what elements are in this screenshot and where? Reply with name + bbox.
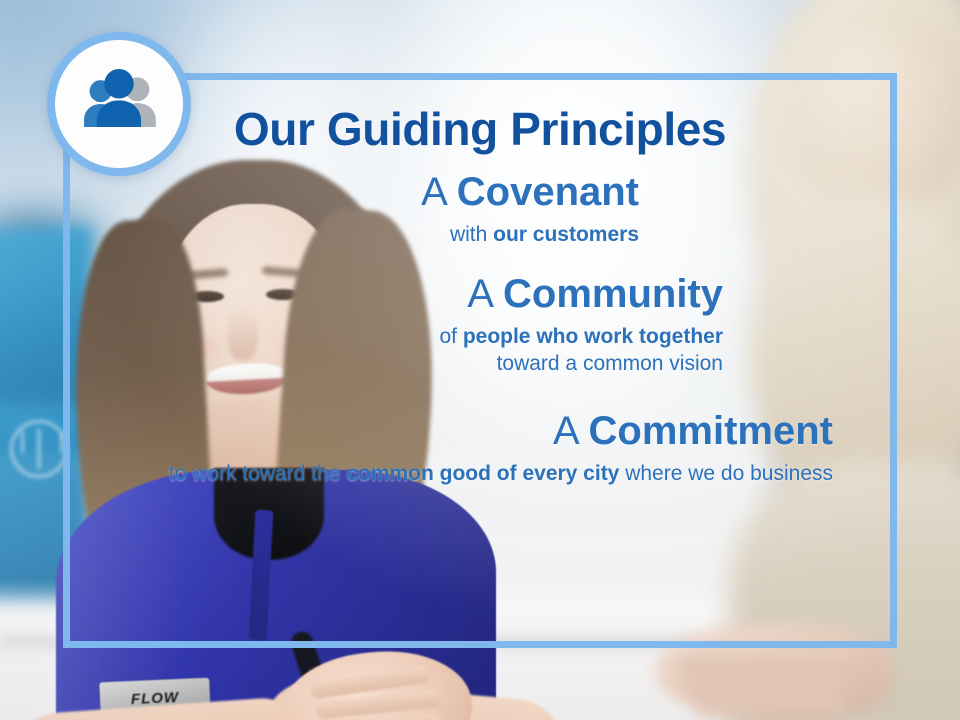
principle-community-keyword: Community	[503, 272, 723, 316]
guiding-principles-banner: FLOW FLOW Our Guiding Principles A Coven…	[0, 0, 960, 720]
principle-covenant-sub-bold: our customers	[493, 223, 639, 246]
principle-commitment-sub-pre: to work toward the	[169, 462, 346, 485]
page-title: Our Guiding Principles	[99, 77, 861, 154]
principle-commitment-sub-post: where we do business	[619, 462, 833, 485]
principle-covenant-sub-pre: with	[450, 223, 493, 246]
principle-community-sub-bold: people who work together	[463, 325, 723, 348]
people-group-icon	[73, 58, 165, 150]
customer-finger-3	[694, 696, 844, 716]
principle-covenant-lead: A	[421, 170, 457, 214]
principle-commitment-keyword: Commitment	[589, 409, 833, 453]
vw-roundel-icon	[10, 420, 68, 478]
people-badge	[47, 32, 191, 176]
principle-community-sub-pre: of	[439, 325, 462, 348]
principle-covenant: A Covenant with our customers	[99, 170, 861, 248]
principle-covenant-keyword: Covenant	[457, 170, 639, 214]
principle-commitment-sub-bold: common good of every city	[346, 462, 619, 485]
principle-commitment-subtext: to work toward the common good of every …	[99, 460, 833, 487]
banner-content: Our Guiding Principles A Covenant with o…	[63, 73, 897, 648]
principle-covenant-subtext: with our customers	[99, 221, 639, 248]
principle-commitment-heading: A Commitment	[99, 409, 833, 454]
principle-community-sub-post: toward a common vision	[497, 352, 723, 375]
customer-finger-2	[684, 676, 852, 696]
principle-community: A Community of people who work togethert…	[99, 272, 861, 377]
principle-community-subtext: of people who work togethertoward a comm…	[99, 323, 723, 378]
customer-finger-1	[680, 654, 860, 674]
principle-commitment-lead: A	[553, 409, 589, 453]
principle-covenant-heading: A Covenant	[99, 170, 639, 215]
principle-community-lead: A	[467, 272, 503, 316]
principle-community-heading: A Community	[99, 272, 723, 317]
principle-commitment: A Commitment to work toward the common g…	[99, 409, 861, 487]
